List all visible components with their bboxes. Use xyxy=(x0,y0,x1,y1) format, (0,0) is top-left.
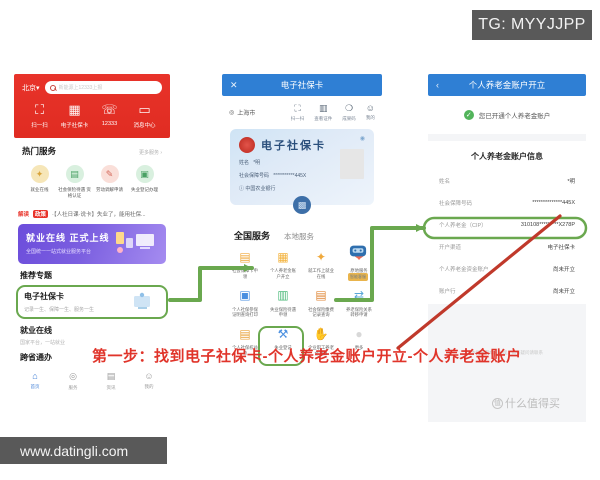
info-label: 个人养老金（CIP） xyxy=(439,221,487,229)
quick-action-label: 扫一扫 xyxy=(31,121,48,129)
service-label: 个人养老金账 户开立 xyxy=(270,268,296,280)
service-ss-card-apply[interactable]: ▤ 社会保障卡申 领 xyxy=(226,248,264,280)
close-icon[interactable]: ✕ xyxy=(230,80,238,91)
nfc-icon: ◉ xyxy=(360,135,365,142)
tab-services[interactable]: ◎ 服务 xyxy=(54,371,92,391)
quick-action-label: 12333 xyxy=(102,121,117,127)
middle-phone-screenshot: ✕ 电子社保卡 ◎ 上海市 ⛶ 扫一扫 ▥ 查看证件 ❍ 成果码 xyxy=(222,74,382,422)
message-icon: ▭ xyxy=(137,103,153,117)
info-row-ssn: 社会保障号码 **************445X xyxy=(428,192,586,214)
payment-record-icon: ▤ xyxy=(313,287,330,304)
hot-services-card: 热门服务 更多服务 › ✦ 就业在线 ▤ 社会保险待遇 资格认证 ✎ 劳动调解申… xyxy=(16,138,168,203)
tab-label: 服务 xyxy=(69,385,78,391)
quick-action-messages[interactable]: ▭ 消息中心 xyxy=(127,103,162,129)
hot-service-label: 劳动调解申请 xyxy=(96,187,123,193)
smart-assistant-entry[interactable]: 智能客服 xyxy=(344,242,372,283)
hot-service-label: 就业在线 xyxy=(31,187,49,193)
employment-topic-title: 就业在线 xyxy=(20,325,164,336)
service-label: 社会保险缴费 记录查询 xyxy=(308,307,334,319)
card-ssn-label: 社会保障号码 xyxy=(239,173,269,179)
search-input[interactable]: 新能源上12333上报 xyxy=(45,81,162,94)
registration-icon: ⚒ xyxy=(275,325,292,342)
hot-service-item[interactable]: ✦ 就业在线 xyxy=(22,165,57,199)
qr-code-icon[interactable]: ▩ xyxy=(293,196,311,214)
ecard-app-header: ✕ 电子社保卡 xyxy=(222,74,382,96)
tool-profile[interactable]: ☺ 我的 xyxy=(366,103,375,122)
site-url-watermark: www.datingli.com xyxy=(0,437,167,464)
unemployment-registration-icon: ▣ xyxy=(136,165,154,183)
hot-service-item[interactable]: ▤ 社会保险待遇 资格认证 xyxy=(57,165,92,199)
left-phone-screenshot: 北京▾ 新能源上12333上报 ⛶ 扫一扫 ▦ 电子社保卡 ☏ xyxy=(14,74,170,422)
compass-icon: ◎ xyxy=(69,371,77,382)
left-red-header: 北京▾ 新能源上12333上报 ⛶ 扫一扫 ▦ 电子社保卡 ☏ xyxy=(14,74,170,138)
info-label: 账户行 xyxy=(439,287,456,295)
card-photo xyxy=(340,149,364,179)
ecard-toolbar: ◎ 上海市 ⛶ 扫一扫 ▥ 查看证件 ❍ 成果码 ☺ 我的 xyxy=(222,96,382,122)
national-emblem-icon xyxy=(239,137,255,153)
location-pin-icon: ◎ xyxy=(229,109,234,116)
info-row-name: 姓名 *明 xyxy=(428,170,586,192)
service-employment-online[interactable]: ✦ 就工作上就业 在线 xyxy=(302,248,340,280)
hot-service-item[interactable]: ▣ 失业登记办理 xyxy=(127,165,162,199)
quick-action-hotline[interactable]: ☏ 12333 xyxy=(92,103,127,129)
location-search-row: 北京▾ 新能源上12333上报 xyxy=(22,81,162,94)
insurance-qualification-icon: ▤ xyxy=(66,165,84,183)
card-bank-label: 中国农业银行 xyxy=(245,186,275,192)
recommended-topics-section: 推荐专题 xyxy=(20,270,164,281)
quick-action-label: 电子社保卡 xyxy=(61,121,89,129)
source-mark-icon: 值 xyxy=(492,398,503,409)
tool-view-id[interactable]: ▥ 查看证件 xyxy=(314,103,332,122)
search-placeholder: 新能源上12333上报 xyxy=(59,84,103,91)
pension-page-body: ✓ 您已开通个人养老金账户 个人养老金账户信息 姓名 *明 社会保障号码 ***… xyxy=(428,96,586,422)
right-phone-screenshot: ‹ 个人养老金账户开立 ✓ 您已开通个人养老金账户 个人养老金账户信息 姓名 *… xyxy=(428,74,586,422)
hot-services-grid: ✦ 就业在线 ▤ 社会保险待遇 资格认证 ✎ 劳动调解申请 ▣ 失业登记办理 xyxy=(22,165,162,199)
employment-online-icon: ✦ xyxy=(31,165,49,183)
home-icon: ⌂ xyxy=(32,371,37,381)
ecard-topic-row: 电子社保卡 记录一生、保障一生、服务一生 xyxy=(24,291,160,313)
search-icon xyxy=(50,85,56,91)
tab-label: 我的 xyxy=(145,384,154,390)
news-icon: ▤ xyxy=(107,371,116,382)
info-label: 个人养老金资金账户 xyxy=(439,265,489,273)
card-name-label: 姓名 xyxy=(239,160,249,166)
city-indicator[interactable]: ◎ 上海市 xyxy=(229,108,255,117)
tab-label: 资讯 xyxy=(107,385,116,391)
tab-national-services[interactable]: 全国服务 xyxy=(234,229,270,242)
ecard-topic-text: 电子社保卡 记录一生、保障一生、服务一生 xyxy=(24,291,94,313)
ecard-app-title: 电子社保卡 xyxy=(222,79,382,91)
quick-action-ecard[interactable]: ▦ 电子社保卡 xyxy=(57,103,92,129)
city-label: 上海市 xyxy=(237,108,255,117)
scan-icon: ⛶ xyxy=(32,103,48,117)
info-value: 电子社保卡 xyxy=(547,243,575,251)
pension-page-title: 个人养老金账户开立 xyxy=(428,79,586,91)
city-selector[interactable]: 北京▾ xyxy=(22,83,40,93)
service-label: 养老保险关系 转移申请 xyxy=(346,307,372,319)
info-label: 姓名 xyxy=(439,177,450,185)
employment-icon: ✦ xyxy=(313,248,330,265)
info-row-channel: 开户渠道 电子社保卡 xyxy=(428,236,586,258)
source-site-label: 什么值得买 xyxy=(505,395,560,411)
tool-label: 查看证件 xyxy=(314,116,332,122)
recommended-topics-title: 推荐专题 xyxy=(20,270,164,281)
account-info-card: 个人养老金账户信息 姓名 *明 社会保障号码 **************445… xyxy=(428,141,586,304)
service-unemployment-benefit[interactable]: ▥ 失业保险待遇 申领 xyxy=(264,287,302,319)
tab-profile[interactable]: ☺ 我的 xyxy=(130,371,168,391)
ecard-tool-group: ⛶ 扫一扫 ▥ 查看证件 ❍ 成果码 ☺ 我的 xyxy=(291,103,375,122)
proof-print-icon: ▣ xyxy=(237,287,254,304)
bottom-tab-bar: ⌂ 首页 ◎ 服务 ▤ 资讯 ☺ 我的 xyxy=(14,371,170,391)
check-circle-icon: ✓ xyxy=(464,110,474,120)
hot-service-item[interactable]: ✎ 劳动调解申请 xyxy=(92,165,127,199)
info-value: **************445X xyxy=(532,200,575,206)
ss-card-icon: ▤ xyxy=(237,248,254,265)
service-scope-tabs: 全国服务 本地服务 xyxy=(234,229,382,242)
quick-action-label: 消息中心 xyxy=(133,121,155,129)
qr-card-icon: ▦ xyxy=(67,103,83,117)
robot-icon xyxy=(344,242,372,260)
info-row-fund-account: 个人养老金资金账户 尚未开立 xyxy=(428,258,586,280)
chevron-down-icon: ▾ xyxy=(36,85,40,92)
tool-label: 扫一扫 xyxy=(291,116,305,122)
service-label: 个人社保参保 证明查询打印 xyxy=(232,307,258,319)
city-name: 北京 xyxy=(22,85,36,92)
account-status-text: 您已开通个人养老金账户 xyxy=(479,110,551,120)
scan-icon: ⛶ xyxy=(294,103,300,114)
info-value: 尚未开立 xyxy=(553,287,575,295)
id-card-icon: ▥ xyxy=(319,103,328,114)
news-tag: 解读 xyxy=(18,210,29,218)
pension-page-header: ‹ 个人养老金账户开立 xyxy=(428,74,586,96)
card-name-value: *明 xyxy=(253,160,260,166)
social-security-card[interactable]: ◉ 电子社保卡 姓名 *明 社会保障号码 ***********445X ⓘ 中… xyxy=(230,129,374,205)
tab-news[interactable]: ▤ 资讯 xyxy=(92,371,130,391)
hot-service-label: 社会保险待遇 资格认证 xyxy=(58,187,91,199)
labor-mediation-icon: ✎ xyxy=(101,165,119,183)
employment-banner[interactable]: 就业在线 正式上线 全国统一一站式就业服务平台 xyxy=(18,224,166,264)
info-row-pension-cip: 个人养老金（CIP） 310108*********X278P xyxy=(428,214,586,236)
headset-icon: ☏ xyxy=(102,103,118,117)
account-info-title: 个人养老金账户信息 xyxy=(428,151,586,162)
info-row-bank: 账户行 尚未开立 xyxy=(428,280,586,302)
user-icon: ☺ xyxy=(144,371,153,381)
account-status-card: ✓ 您已开通个人养老金账户 xyxy=(428,96,586,134)
tool-code[interactable]: ❍ 成果码 xyxy=(342,103,356,122)
quick-action-scan[interactable]: ⛶ 扫一扫 xyxy=(22,103,57,129)
card-ssn-value: ***********445X xyxy=(273,173,306,179)
tool-label: 成果码 xyxy=(342,116,356,122)
info-label: 开户渠道 xyxy=(439,243,461,251)
service-pension-transfer[interactable]: ⇄ 养老保险关系 转移申请 xyxy=(340,287,378,319)
highlighted-ecard-entry[interactable]: 电子社保卡 记录一生、保障一生、服务一生 xyxy=(16,285,168,319)
service-label: 就工作上就业 在线 xyxy=(308,268,334,280)
pension-account-icon: ▦ xyxy=(275,248,292,265)
hot-services-header: 热门服务 更多服务 › xyxy=(22,145,162,157)
ecard-topic-title: 电子社保卡 xyxy=(24,291,94,302)
transfer-icon: ⇄ xyxy=(351,287,368,304)
tab-home[interactable]: ⌂ 首页 xyxy=(16,371,54,391)
service-payment-record[interactable]: ▤ 社会保险缴费 记录查询 xyxy=(302,287,340,319)
hot-services-more-link[interactable]: 更多服务 › xyxy=(139,149,162,156)
smart-assistant-label: 智能客服 xyxy=(348,273,368,281)
telegram-watermark: TG: MYYJJPP xyxy=(472,10,592,40)
code-icon: ❍ xyxy=(345,103,353,114)
info-label: 社会保障号码 xyxy=(439,199,472,207)
source-watermark: 值 什么值得买 xyxy=(492,395,560,411)
screenshot-canvas: TG: MYYJJPP 北京▾ 新能源上12333上报 ⛶ 扫一扫 ▦ xyxy=(0,0,600,480)
tab-local-services[interactable]: 本地服务 xyxy=(284,231,314,242)
ecard-topic-subtitle: 记录一生、保障一生、服务一生 xyxy=(24,306,94,313)
info-value: 尚未开立 xyxy=(553,265,575,273)
info-value: 310108*********X278P xyxy=(521,222,575,228)
info-value: *明 xyxy=(567,177,575,185)
tool-scan[interactable]: ⛶ 扫一扫 xyxy=(291,103,305,122)
quick-actions-row: ⛶ 扫一扫 ▦ 电子社保卡 ☏ 12333 ▭ 消息中心 xyxy=(22,103,162,129)
hot-service-label: 失业登记办理 xyxy=(131,187,158,193)
banner-illustration xyxy=(110,228,162,260)
card-bank-row: ⓘ 中国农业银行 xyxy=(239,185,365,192)
unemployment-benefit-icon: ▥ xyxy=(275,287,292,304)
card-title: 电子社保卡 xyxy=(261,137,326,153)
calculator-icon: ✋ xyxy=(313,325,330,342)
service-insurance-proof[interactable]: ▣ 个人社保参保 证明查询打印 xyxy=(226,287,264,319)
tab-label: 首页 xyxy=(31,384,40,390)
news-headline: ·【人社日课·说卡】失业了，能用社保... xyxy=(52,210,146,218)
back-chevron-icon[interactable]: ‹ xyxy=(436,80,439,90)
ecard-illustration xyxy=(126,291,160,313)
employment-online-topic[interactable]: 就业在线 国家平台，一站就业 xyxy=(20,325,164,346)
news-tag-badge: 政策 xyxy=(33,210,48,218)
user-icon: ☺ xyxy=(366,103,375,113)
service-pension-account-open[interactable]: ▦ 个人养老金账 户开立 xyxy=(264,248,302,280)
hot-services-title: 热门服务 xyxy=(22,145,56,157)
rights-statement-icon: ▤ xyxy=(237,325,254,342)
service-label: 失业保险待遇 申领 xyxy=(270,307,296,319)
tool-label: 我的 xyxy=(366,115,375,121)
service-label: 社会保障卡申 领 xyxy=(232,268,258,280)
step-annotation-text: 第一步：找到电子社保卡-个人养老金账户开立-个人养老金账户 xyxy=(92,345,522,366)
more-icon: ● xyxy=(351,325,368,342)
news-ticker[interactable]: 解读 政策 ·【人社日课·说卡】失业了，能用社保... xyxy=(18,210,166,218)
